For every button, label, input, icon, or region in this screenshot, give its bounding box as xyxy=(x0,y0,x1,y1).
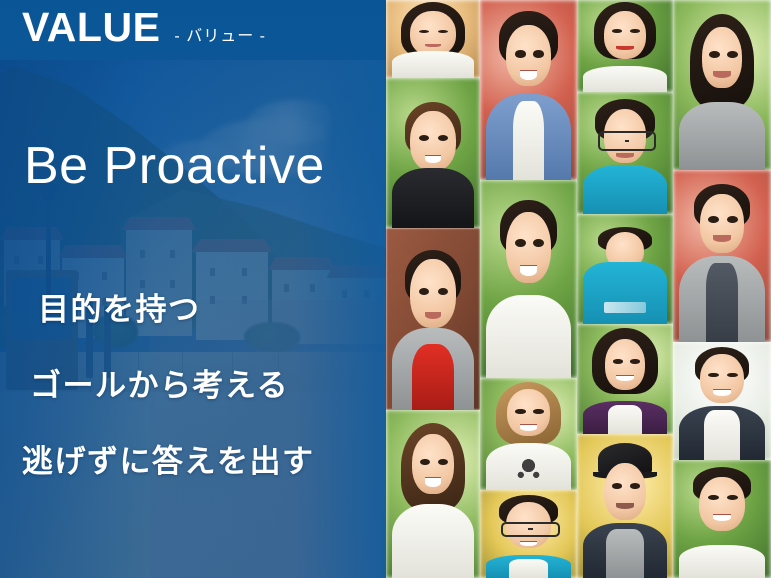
value-subtitle-text: - バリュー - xyxy=(174,29,266,45)
left-panel: VALUE - バリュー - Be Proactive 目的を持つ ゴールから考… xyxy=(0,0,386,578)
portrait-cell xyxy=(386,228,480,410)
photo-column-2 xyxy=(480,0,577,578)
value-title-text: VALUE xyxy=(22,7,160,48)
headline: Be Proactive xyxy=(24,140,325,192)
portrait-cell xyxy=(480,490,577,578)
photo-column-4 xyxy=(673,0,771,578)
portrait-cell xyxy=(386,78,480,228)
right-edge-wash xyxy=(294,0,386,578)
creed-line-1: 目的を持つ xyxy=(38,294,201,325)
portrait-cell xyxy=(386,0,480,78)
tshirt-print xyxy=(511,454,546,483)
portrait-cell xyxy=(673,0,771,170)
polo-logo xyxy=(604,302,646,313)
creed-line-2: ゴールから考える xyxy=(30,370,289,401)
portrait-cell xyxy=(480,180,577,378)
portrait-cell xyxy=(673,460,771,578)
portrait-cell xyxy=(673,170,771,342)
portrait-cell xyxy=(480,0,577,180)
photo-column-1 xyxy=(386,0,480,578)
team-photo-mosaic xyxy=(386,0,771,578)
portrait-cell xyxy=(577,214,673,324)
creed-line-3: 逃げずに答えを出す xyxy=(22,446,315,477)
portrait-cell xyxy=(577,434,673,578)
portrait-cell xyxy=(673,342,771,460)
portrait-cell xyxy=(480,378,577,490)
photo-column-3 xyxy=(577,0,673,578)
page-title: VALUE - バリュー - xyxy=(22,7,266,48)
value-slide: VALUE - バリュー - Be Proactive 目的を持つ ゴールから考… xyxy=(0,0,771,578)
portrait-cell xyxy=(386,410,480,578)
portrait-cell xyxy=(577,0,673,92)
portrait-cell xyxy=(577,92,673,214)
portrait-cell xyxy=(577,324,673,434)
